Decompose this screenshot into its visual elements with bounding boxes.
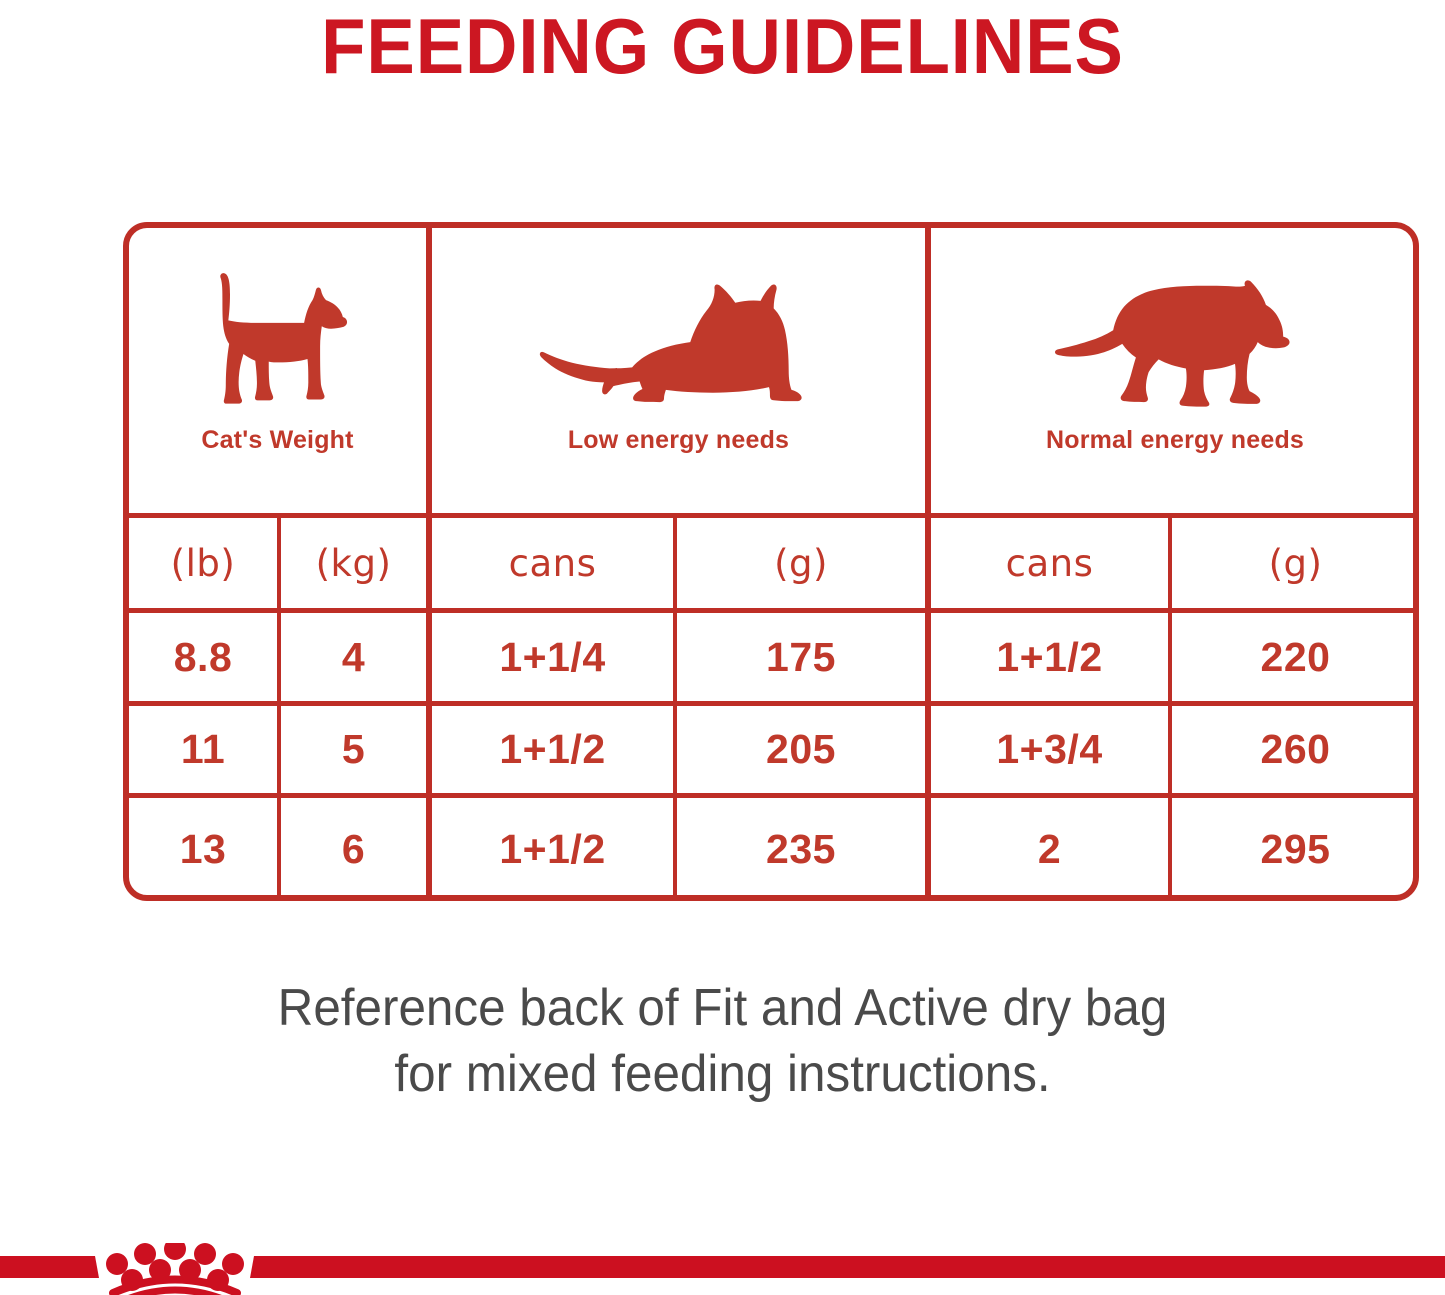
table-row: 1+1/2 [931, 613, 1168, 701]
table-row: 1+1/2 [432, 798, 673, 901]
table-row: 205 [677, 706, 925, 793]
page-title: FEEDING GUIDELINES [51, 0, 1395, 92]
group-label: Cat's Weight [201, 426, 353, 455]
table-row: 4 [281, 613, 426, 701]
group-label: Low energy needs [568, 426, 789, 455]
lying-cat-icon [529, 246, 829, 418]
table-row: 5 [281, 706, 426, 793]
group-header-cats-weight: Cat's Weight [129, 228, 426, 513]
group-header-normal-energy: Normal energy needs [931, 228, 1419, 513]
footnote-line-2: for mixed feeding instructions. [36, 1041, 1409, 1107]
unit-header-low-g: (g) [677, 518, 925, 608]
royal-canin-crown-logo [0, 1243, 1445, 1295]
table-row: 6 [281, 798, 426, 901]
table-row: 2 [931, 798, 1168, 901]
walking-cat-icon [1025, 246, 1325, 418]
unit-header-normal-cans: cans [931, 518, 1168, 608]
table-row: 1+1/4 [432, 613, 673, 701]
unit-header-normal-g: (g) [1172, 518, 1419, 608]
unit-header-low-cans: cans [432, 518, 673, 608]
group-header-low-energy: Low energy needs [432, 228, 925, 513]
table-row: 175 [677, 613, 925, 701]
table-row: 8.8 [129, 613, 277, 701]
table-row: 235 [677, 798, 925, 901]
table-row: 1+1/2 [432, 706, 673, 793]
table-row: 260 [1172, 706, 1419, 793]
table-row: 220 [1172, 613, 1419, 701]
group-label: Normal energy needs [1046, 426, 1304, 455]
table-row: 1+3/4 [931, 706, 1168, 793]
table-row: 295 [1172, 798, 1419, 901]
table-row: 13 [129, 798, 277, 901]
unit-header-lb: (lb) [129, 518, 277, 608]
standing-cat-icon [198, 246, 358, 418]
footnote: Reference back of Fit and Active dry bag… [36, 975, 1409, 1107]
feeding-guidelines-table: Cat's Weight Low energy needs Normal ene… [123, 222, 1419, 901]
table-row: 11 [129, 706, 277, 793]
unit-header-kg: (kg) [281, 518, 426, 608]
footnote-line-1: Reference back of Fit and Active dry bag [36, 975, 1409, 1041]
